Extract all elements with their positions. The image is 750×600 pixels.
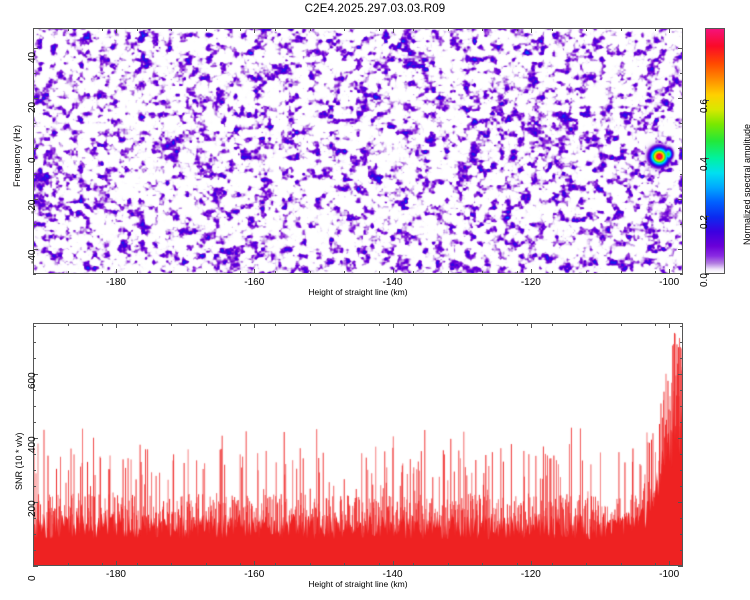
x-tick [531, 561, 532, 566]
y-tick-label: -20 [27, 199, 38, 213]
x-minor-tick [586, 563, 587, 566]
y-tick [678, 249, 683, 250]
x-minor-tick [275, 323, 276, 326]
y-tick [33, 98, 38, 99]
y-minor-tick [33, 390, 36, 391]
x-minor-tick [102, 563, 103, 566]
y-tick [678, 566, 683, 567]
x-minor-tick [413, 323, 414, 326]
y-minor-tick [680, 326, 683, 327]
colorbar [705, 28, 725, 274]
x-minor-tick [171, 323, 172, 326]
y-minor-tick [33, 342, 36, 343]
y-tick-label: 20 [27, 102, 38, 113]
x-minor-tick [171, 271, 172, 274]
x-tick [116, 269, 117, 274]
x-tick [669, 28, 670, 33]
colorbar-tick-label: 0.4 [699, 157, 710, 171]
x-minor-tick [137, 323, 138, 326]
y-minor-tick [33, 73, 36, 74]
x-minor-tick [206, 271, 207, 274]
x-minor-tick [621, 28, 622, 31]
y-minor-tick [33, 274, 36, 275]
x-minor-tick [68, 28, 69, 31]
y-tick [678, 438, 683, 439]
x-minor-tick [171, 28, 172, 31]
y-minor-tick [680, 358, 683, 359]
x-minor-tick [206, 28, 207, 31]
x-minor-tick [655, 563, 656, 566]
y-minor-tick [33, 422, 36, 423]
x-minor-tick [379, 271, 380, 274]
x-tick [393, 323, 394, 328]
y-minor-tick [33, 470, 36, 471]
colorbar-tick-label: 0.6 [699, 99, 710, 113]
x-tick-label: -180 [102, 569, 130, 580]
y-minor-tick [680, 422, 683, 423]
y-tick-label: 400 [27, 436, 38, 453]
x-minor-tick [621, 271, 622, 274]
x-minor-tick [310, 563, 311, 566]
y-minor-tick [680, 390, 683, 391]
x-minor-tick [482, 28, 483, 31]
x-tick [254, 323, 255, 328]
x-tick [531, 28, 532, 33]
x-minor-tick [379, 28, 380, 31]
y-tick [678, 502, 683, 503]
x-minor-tick [240, 28, 241, 31]
x-minor-tick [413, 28, 414, 31]
x-minor-tick [552, 323, 553, 326]
y-tick-label: 0 [27, 575, 38, 581]
x-tick [254, 269, 255, 274]
x-minor-tick [102, 271, 103, 274]
x-minor-tick [344, 271, 345, 274]
y-tick-label: -40 [27, 249, 38, 263]
x-minor-tick [482, 563, 483, 566]
spectrogram-frame [33, 28, 683, 274]
x-minor-tick [655, 28, 656, 31]
x-minor-tick [552, 271, 553, 274]
x-minor-tick [586, 28, 587, 31]
y-tick-label: 40 [27, 52, 38, 63]
y-minor-tick [33, 174, 36, 175]
x-tick [254, 561, 255, 566]
y-tick [678, 148, 683, 149]
x-minor-tick [102, 28, 103, 31]
y-minor-tick [33, 534, 36, 535]
y-minor-tick [680, 342, 683, 343]
y-minor-tick [33, 518, 36, 519]
y-tick [678, 374, 683, 375]
y-tick [33, 148, 38, 149]
x-minor-tick [68, 323, 69, 326]
x-minor-tick [137, 563, 138, 566]
x-minor-tick [240, 323, 241, 326]
x-minor-tick [275, 271, 276, 274]
x-minor-tick [586, 323, 587, 326]
snr-xlabel: Height of straight line (km) [258, 579, 458, 589]
y-minor-tick [680, 224, 683, 225]
y-minor-tick [680, 486, 683, 487]
x-tick [393, 561, 394, 566]
y-minor-tick [680, 274, 683, 275]
x-tick-label: -100 [655, 569, 683, 580]
x-tick-label: -180 [102, 277, 130, 288]
figure-title: C2E4.2025.297.03.03.R09 [0, 3, 750, 15]
spectrogram-ylabel: Frequency (Hz) [12, 125, 22, 187]
x-minor-tick [655, 323, 656, 326]
y-tick-label: 600 [27, 372, 38, 389]
x-minor-tick [240, 271, 241, 274]
y-tick-label: 0 [27, 158, 38, 164]
x-minor-tick [517, 271, 518, 274]
spectrogram-xlabel: Height of straight line (km) [258, 287, 458, 297]
x-tick [116, 28, 117, 33]
y-minor-tick [680, 550, 683, 551]
x-minor-tick [448, 323, 449, 326]
x-tick-label: -120 [517, 277, 545, 288]
x-minor-tick [137, 271, 138, 274]
y-tick [678, 98, 683, 99]
snr-ylabel: SNR (10 * v/v) [14, 432, 24, 490]
x-minor-tick [413, 563, 414, 566]
x-minor-tick [448, 28, 449, 31]
x-tick [669, 269, 670, 274]
y-minor-tick [33, 406, 36, 407]
x-minor-tick [275, 28, 276, 31]
y-minor-tick [680, 174, 683, 175]
x-tick [116, 561, 117, 566]
colorbar-label: Normalized spectral amplitude [742, 124, 750, 245]
x-minor-tick [655, 271, 656, 274]
x-tick-label: -120 [517, 569, 545, 580]
x-tick [393, 269, 394, 274]
y-minor-tick [33, 550, 36, 551]
x-minor-tick [552, 28, 553, 31]
x-tick [531, 269, 532, 274]
x-minor-tick [448, 563, 449, 566]
x-minor-tick [517, 323, 518, 326]
x-minor-tick [310, 28, 311, 31]
y-minor-tick [680, 518, 683, 519]
colorbar-tick-label: 0.2 [699, 215, 710, 229]
y-minor-tick [680, 454, 683, 455]
x-minor-tick [482, 323, 483, 326]
x-minor-tick [310, 271, 311, 274]
x-minor-tick [68, 563, 69, 566]
y-tick-label: 200 [27, 500, 38, 517]
x-minor-tick [344, 563, 345, 566]
y-minor-tick [680, 123, 683, 124]
x-minor-tick [379, 323, 380, 326]
x-tick [669, 323, 670, 328]
x-minor-tick [137, 28, 138, 31]
y-minor-tick [33, 224, 36, 225]
x-minor-tick [413, 271, 414, 274]
y-minor-tick [33, 486, 36, 487]
x-minor-tick [240, 563, 241, 566]
x-minor-tick [344, 28, 345, 31]
y-minor-tick [680, 534, 683, 535]
x-minor-tick [621, 563, 622, 566]
x-tick [254, 28, 255, 33]
y-minor-tick [33, 454, 36, 455]
y-minor-tick [33, 123, 36, 124]
x-minor-tick [517, 28, 518, 31]
x-minor-tick [102, 323, 103, 326]
x-tick [669, 561, 670, 566]
x-tick-label: -100 [655, 277, 683, 288]
y-tick [678, 199, 683, 200]
y-minor-tick [33, 326, 36, 327]
y-tick [678, 48, 683, 49]
x-tick [531, 323, 532, 328]
x-minor-tick [310, 323, 311, 326]
x-minor-tick [171, 563, 172, 566]
figure-root: C2E4.2025.297.03.03.R09 -180-160-140-120… [0, 0, 750, 600]
x-minor-tick [206, 323, 207, 326]
x-minor-tick [68, 271, 69, 274]
colorbar-tick-label: 0.0 [699, 273, 710, 287]
x-minor-tick [344, 323, 345, 326]
y-minor-tick [33, 358, 36, 359]
x-minor-tick [482, 271, 483, 274]
x-minor-tick [33, 28, 34, 31]
snr-frame [33, 323, 683, 566]
x-minor-tick [586, 271, 587, 274]
x-minor-tick [275, 563, 276, 566]
x-tick [116, 323, 117, 328]
y-minor-tick [680, 406, 683, 407]
x-minor-tick [206, 563, 207, 566]
y-tick [33, 48, 38, 49]
y-tick [33, 566, 38, 567]
x-minor-tick [552, 563, 553, 566]
x-minor-tick [517, 563, 518, 566]
x-minor-tick [379, 563, 380, 566]
y-minor-tick [680, 470, 683, 471]
x-minor-tick [448, 271, 449, 274]
y-minor-tick [680, 73, 683, 74]
x-minor-tick [621, 323, 622, 326]
x-tick [393, 28, 394, 33]
